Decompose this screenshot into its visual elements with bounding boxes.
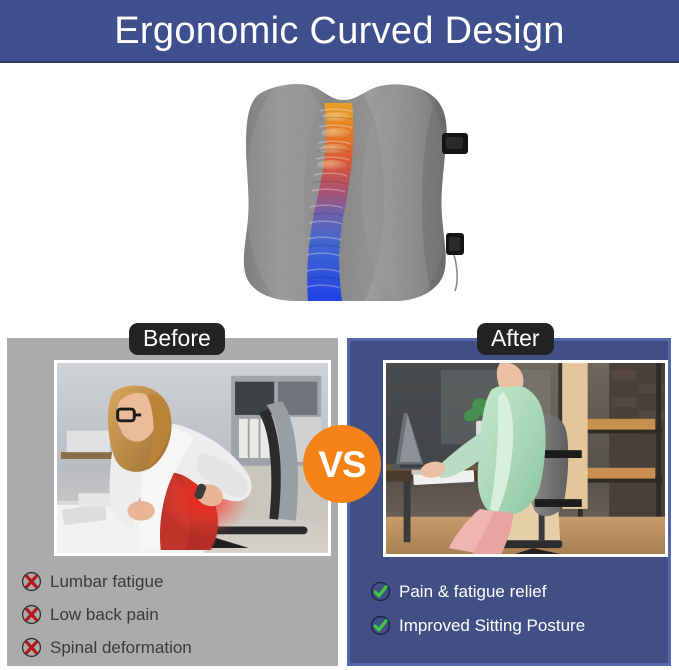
after-photo-frame — [383, 360, 668, 557]
before-photo-frame — [54, 360, 331, 556]
list-item: Improved Sitting Posture — [370, 615, 660, 636]
list-item: Low back pain — [21, 604, 321, 625]
before-after-comparison: Lumbar fatigue Low back pain Spinal defo… — [0, 323, 679, 666]
before-panel: Lumbar fatigue Low back pain Spinal defo… — [7, 338, 338, 666]
list-item-label: Spinal deformation — [50, 639, 192, 656]
list-item: Spinal deformation — [21, 637, 321, 658]
strap-clip-upper — [442, 133, 468, 154]
hero-product-section — [0, 65, 679, 323]
before-symptom-list: Lumbar fatigue Low back pain Spinal defo… — [21, 571, 321, 670]
red-x-icon — [21, 571, 42, 592]
header-banner: Ergonomic Curved Design — [0, 0, 679, 63]
cushion-body — [244, 80, 466, 313]
vs-badge: VS — [303, 425, 381, 503]
before-label-pill: Before — [129, 323, 225, 355]
list-item-label: Improved Sitting Posture — [399, 617, 585, 634]
list-item: Lumbar fatigue — [21, 571, 321, 592]
list-item: Pain & fatigue relief — [370, 581, 660, 602]
red-x-icon — [21, 604, 42, 625]
strap-clip-lower — [446, 233, 464, 255]
after-benefit-list: Pain & fatigue relief Improved Sitting P… — [370, 581, 660, 649]
green-check-icon — [370, 615, 391, 636]
lumbar-cushion-image — [196, 73, 496, 313]
green-check-icon — [370, 581, 391, 602]
after-panel: Pain & fatigue relief Improved Sitting P… — [347, 338, 671, 666]
list-item-label: Pain & fatigue relief — [399, 583, 546, 600]
list-item-label: Lumbar fatigue — [50, 573, 163, 590]
after-label-pill: After — [477, 323, 554, 355]
vs-label: VS — [318, 446, 365, 483]
list-item-label: Low back pain — [50, 606, 159, 623]
page-title: Ergonomic Curved Design — [114, 12, 564, 50]
red-x-icon — [21, 637, 42, 658]
